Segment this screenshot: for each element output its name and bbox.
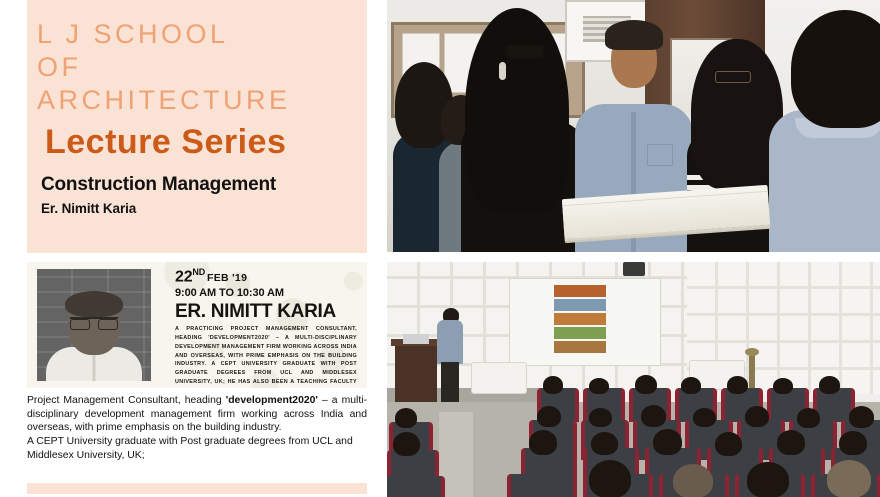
audience-head (395, 408, 417, 428)
audience-head (589, 408, 612, 427)
audience-head (589, 460, 631, 497)
slide-image (554, 341, 606, 353)
audience-head (797, 408, 820, 428)
glasses-icon (70, 317, 118, 329)
hero-panel: L J SCHOOL OF ARCHITECTURE Lecture Serie… (27, 0, 367, 253)
bio-paragraph-2: A CEPT University graduate with Post gra… (27, 435, 367, 462)
photo-students-review (387, 0, 880, 252)
poster-page: L J SCHOOL OF ARCHITECTURE Lecture Serie… (0, 0, 880, 497)
laptop (403, 334, 429, 344)
audience-head (839, 431, 867, 455)
audience-head (745, 406, 769, 427)
bio-text-pre: Project Management Consultant, heading (27, 395, 226, 406)
projector (623, 262, 645, 276)
speaker-portrait-photo (37, 269, 151, 381)
poster-speaker-name: ER. NIMITT KARIA (175, 302, 357, 321)
white-sofa-left (471, 362, 527, 394)
audience-head (727, 376, 748, 394)
shirt-pocket (647, 144, 673, 166)
earring (499, 62, 506, 80)
poster-date-month: FEB '19 (207, 272, 247, 284)
audience-head (747, 462, 789, 497)
lecture-topic: Construction Management (41, 174, 367, 196)
audience-head (773, 378, 793, 394)
poster-text-block: 22NDFEB '19 9:00 AM TO 10:30 AM ER. NIMI… (175, 268, 357, 388)
glasses-icon (505, 44, 545, 59)
hair (465, 8, 569, 213)
school-name-line-3: ARCHITECTURE (37, 84, 367, 117)
school-name-line-2: OF (37, 51, 367, 84)
audience-head (543, 376, 563, 394)
bottom-peach-strip (27, 483, 367, 494)
slide-image (554, 285, 606, 297)
slide-content (554, 285, 608, 357)
legs (441, 362, 459, 406)
audience-head (589, 378, 609, 394)
podium (395, 344, 437, 406)
audience-head (529, 430, 557, 455)
slide-image (554, 313, 606, 325)
poster-card: 22NDFEB '19 9:00 AM TO 10:30 AM ER. NIMI… (27, 262, 367, 388)
school-name: L J SCHOOL OF ARCHITECTURE (37, 18, 367, 117)
slide-image (554, 327, 606, 339)
lecturer (437, 308, 463, 406)
school-name-line-1: L J SCHOOL (37, 18, 367, 51)
seat (387, 476, 445, 497)
audience-head (819, 376, 840, 394)
poster-date: 22NDFEB '19 (175, 268, 357, 285)
bio-highlight: 'development2020' (226, 395, 318, 406)
speaker-name-subtitle: Er. Nimitt Karia (41, 201, 367, 216)
audience-head (393, 432, 420, 456)
lecture-series-title: Lecture Series (45, 125, 367, 161)
audience-head (673, 464, 713, 497)
audience-head (653, 429, 682, 455)
poster-time: 9:00 AM TO 10:30 AM (175, 287, 357, 299)
bio-paragraph-1: Project Management Consultant, heading '… (27, 394, 367, 435)
hair (791, 10, 880, 128)
left-column: L J SCHOOL OF ARCHITECTURE Lecture Serie… (27, 0, 367, 497)
glasses-icon (715, 71, 751, 83)
hair (605, 20, 663, 50)
slide-image (554, 299, 606, 311)
audience-head (635, 375, 657, 394)
audience-head (537, 406, 561, 427)
audience-head (681, 377, 701, 394)
audience-head (849, 406, 874, 428)
poster-date-ordinal: ND (192, 267, 205, 277)
audience-head (591, 432, 618, 455)
audience-head (777, 430, 805, 455)
seat (507, 474, 577, 497)
photo-auditorium-lecture (387, 262, 880, 497)
poster-speaker-bio: A PRACTICING PROJECT MANAGEMENT CONSULTA… (175, 325, 357, 388)
audience-head (827, 460, 871, 497)
audience-head (693, 408, 716, 427)
projection-screen (509, 278, 661, 366)
body (437, 320, 463, 364)
audience-head (715, 432, 742, 456)
bio-block: Project Management Consultant, heading '… (27, 394, 367, 463)
audience-head (641, 405, 666, 427)
person-student-back (769, 0, 880, 252)
poster-date-day: 22 (175, 268, 192, 285)
